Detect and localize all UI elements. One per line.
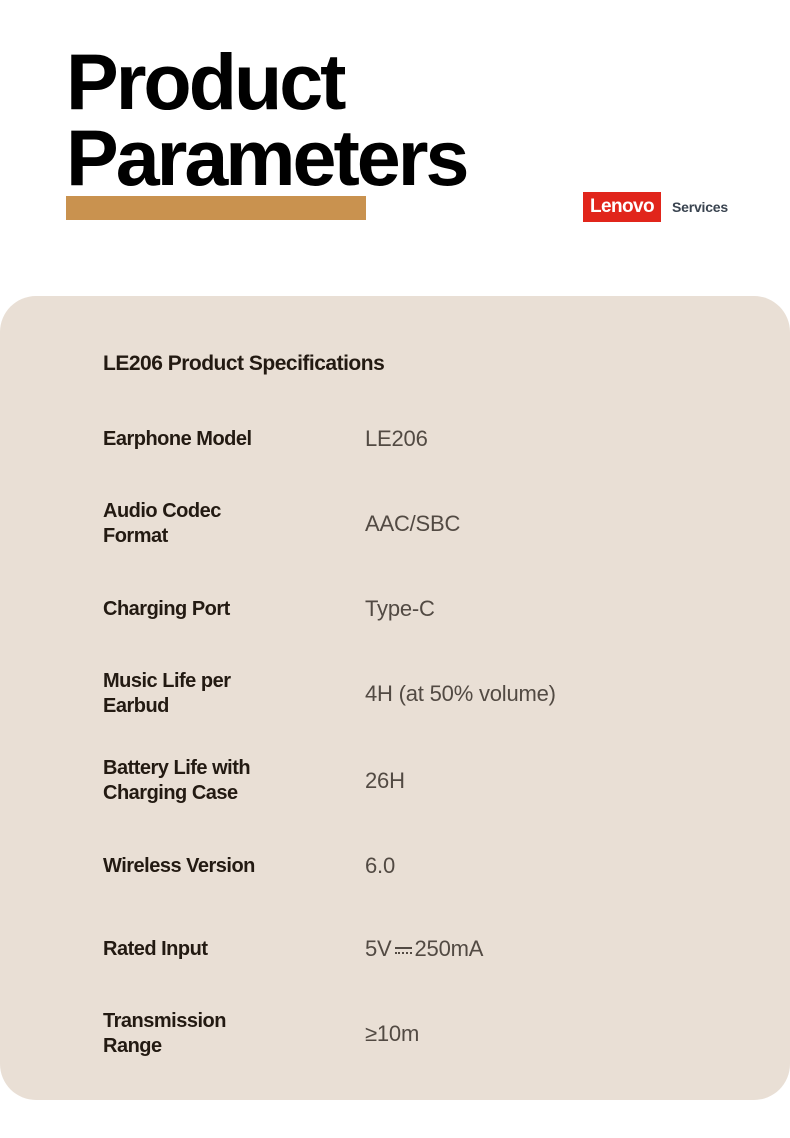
spec-label: Battery Life with Charging Case	[103, 756, 365, 806]
spec-label: Charging Port	[103, 597, 365, 622]
spec-label: Rated Input	[103, 937, 365, 962]
page-title-line-2: Parameters	[66, 120, 606, 196]
page-title-line-1: Product	[66, 44, 606, 120]
table-row: Music Life per Earbud 4H (at 50% volume)	[103, 661, 723, 727]
specifications-title: LE206 Product Specifications	[103, 352, 384, 376]
page-header: Product Parameters Lenovo Services	[0, 0, 790, 296]
table-row: Rated Input 5V 250mA	[103, 918, 723, 980]
rated-input-current: 250mA	[415, 936, 484, 962]
table-row: Audio Codec Format AAC/SBC	[103, 491, 723, 557]
table-row: Battery Life with Charging Case 26H	[103, 748, 723, 814]
spec-label: Music Life per Earbud	[103, 669, 365, 719]
lenovo-services-label: Services	[672, 199, 728, 215]
page-title: Product Parameters	[66, 44, 606, 196]
spec-value: LE206	[365, 426, 723, 452]
spec-label: Transmission Range	[103, 1009, 365, 1059]
spec-value: 5V 250mA	[365, 936, 723, 962]
table-row: Charging Port Type-C	[103, 578, 723, 640]
spec-value: 4H (at 50% volume)	[365, 681, 723, 707]
spec-value: AAC/SBC	[365, 511, 723, 537]
dc-current-icon	[395, 945, 412, 956]
specifications-table: Earphone Model LE206 Audio Codec Format …	[103, 408, 723, 1088]
spec-label: Audio Codec Format	[103, 499, 365, 549]
spec-value: 6.0	[365, 853, 723, 879]
spec-label: Wireless Version	[103, 854, 365, 879]
lenovo-services-logo: Lenovo Services	[583, 192, 728, 222]
rated-input-voltage: 5V	[365, 936, 392, 962]
specifications-card: LE206 Product Specifications Earphone Mo…	[0, 296, 790, 1100]
spec-value: ≥10m	[365, 1021, 723, 1047]
spec-label: Earphone Model	[103, 427, 365, 452]
table-row: Wireless Version 6.0	[103, 835, 723, 897]
spec-value: Type-C	[365, 596, 723, 622]
table-row: Earphone Model LE206	[103, 408, 723, 470]
spec-value: 26H	[365, 768, 723, 794]
table-row: Transmission Range ≥10m	[103, 1001, 723, 1067]
lenovo-wordmark: Lenovo	[583, 192, 661, 222]
